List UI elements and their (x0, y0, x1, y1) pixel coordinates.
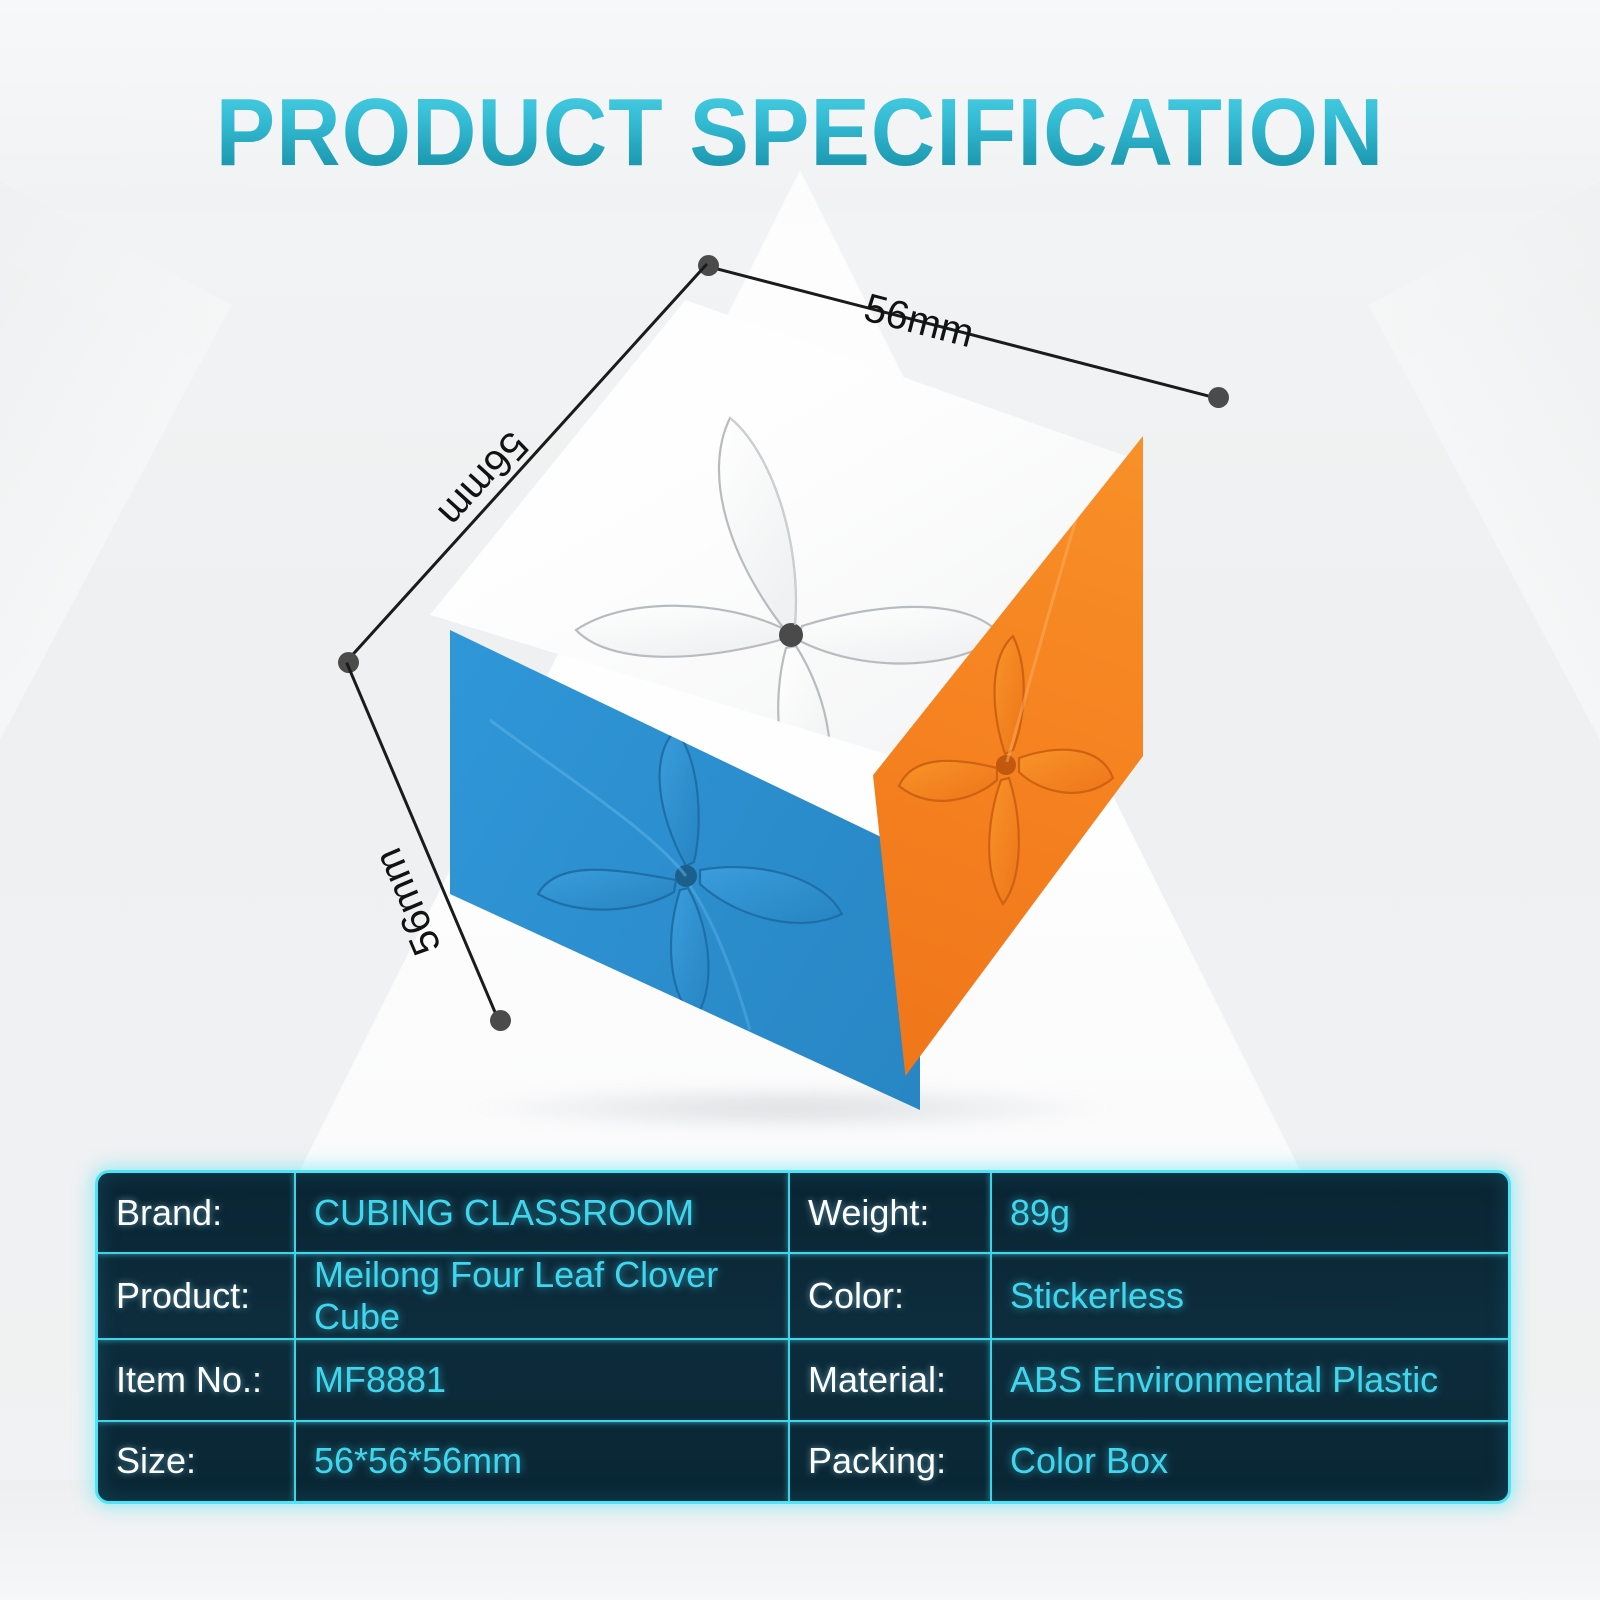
specification-table: Brand: CUBING CLASSROOM Weight: 89g Prod… (95, 1170, 1511, 1504)
spec-label-product: Product: (98, 1254, 294, 1338)
spec-value-item-no: MF8881 (294, 1340, 788, 1419)
spec-value-product: Meilong Four Leaf Clover Cube (294, 1254, 788, 1338)
spec-value-packing: Color Box (990, 1422, 1508, 1501)
spec-label-weight: Weight: (788, 1173, 990, 1252)
product-specification-page: PRODUCT SPECIFICATION (0, 0, 1600, 1600)
table-row: Product: Meilong Four Leaf Clover Cube C… (98, 1254, 1508, 1340)
spec-label-size: Size: (98, 1422, 294, 1501)
spec-label-packing: Packing: (788, 1422, 990, 1501)
product-cube-image (430, 300, 1130, 1110)
spec-value-brand: CUBING CLASSROOM (294, 1173, 788, 1252)
spec-label-item-no: Item No.: (98, 1340, 294, 1419)
spec-label-material: Material: (788, 1340, 990, 1419)
dimension-dot-bottom (490, 1010, 511, 1031)
table-row: Size: 56*56*56mm Packing: Color Box (98, 1422, 1508, 1501)
page-title: PRODUCT SPECIFICATION (56, 78, 1544, 188)
table-row: Brand: CUBING CLASSROOM Weight: 89g (98, 1173, 1508, 1254)
spec-value-color: Stickerless (990, 1254, 1508, 1338)
spec-value-weight: 89g (990, 1173, 1508, 1252)
dimension-dot-right (1208, 387, 1229, 408)
spec-label-color: Color: (788, 1254, 990, 1338)
spec-value-material: ABS Environmental Plastic (990, 1340, 1508, 1419)
spec-label-brand: Brand: (98, 1173, 294, 1252)
spec-value-size: 56*56*56mm (294, 1422, 788, 1501)
table-row: Item No.: MF8881 Material: ABS Environme… (98, 1340, 1508, 1421)
